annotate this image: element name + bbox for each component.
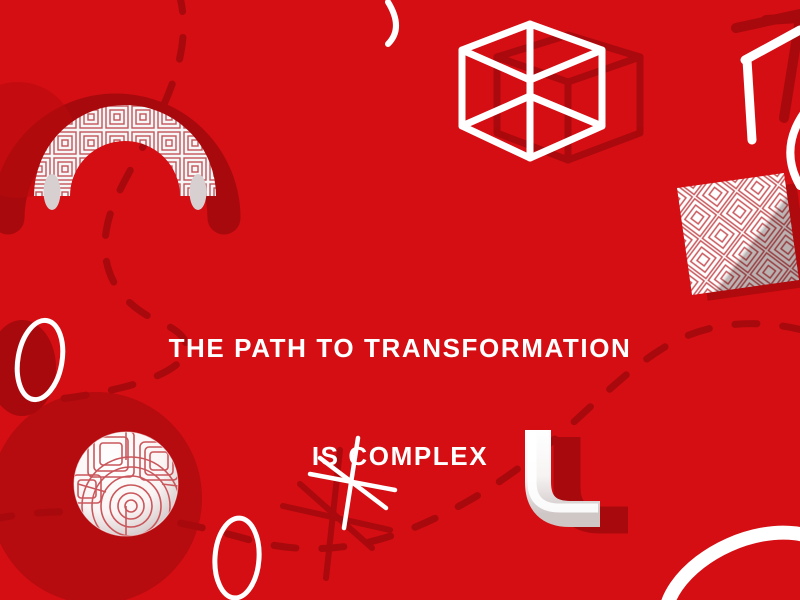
arc-top-right-edge (790, 110, 800, 186)
white-shapes-layer (0, 0, 800, 600)
ellipse-ring-bottom-right (645, 507, 800, 600)
bent-tube (538, 430, 600, 514)
asterisk-star (310, 438, 395, 528)
patterned-sphere (73, 431, 180, 555)
patterned-arch (44, 123, 207, 210)
poster-canvas: THE PATH TO TRANSFORMATION IS COMPLEX (0, 0, 800, 600)
ellipse-ring-bottom (212, 517, 261, 600)
ellipse-ring-left (11, 317, 68, 403)
patterned-tile (677, 173, 799, 295)
wireframe-cube (462, 24, 602, 158)
angular-bracket (745, 30, 800, 140)
arc-top-centre (388, 2, 396, 44)
